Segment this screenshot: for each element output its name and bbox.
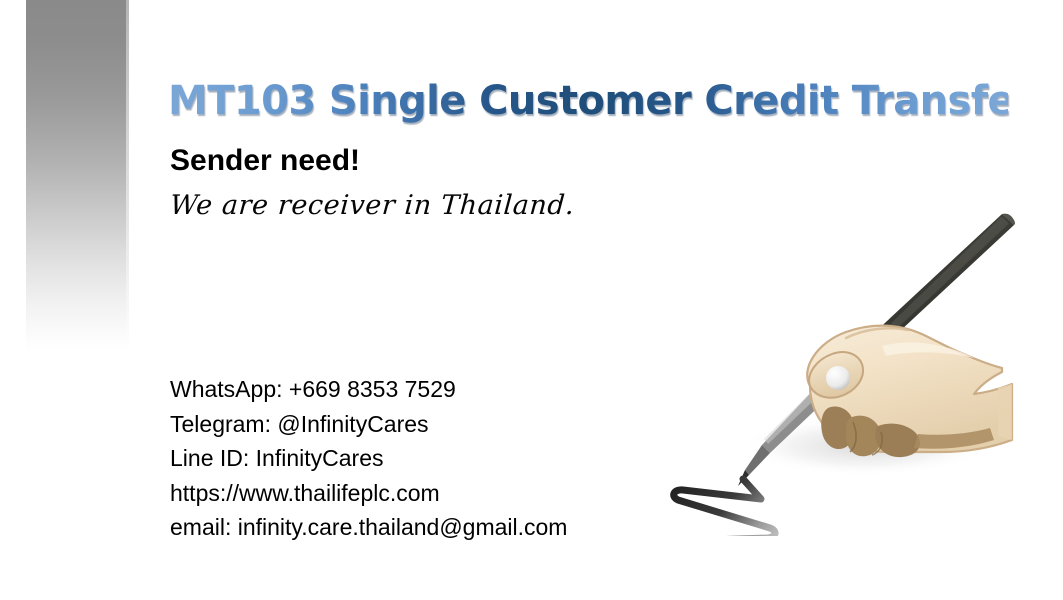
contact-line-website[interactable]: https://www.thailifeplc.com	[170, 476, 690, 511]
left-gradient-band-edge	[126, 0, 129, 352]
hand-writing-with-pen-icon	[650, 196, 1050, 536]
slide-canvas: MT103 Single Customer Credit Transfer Se…	[0, 0, 1063, 600]
script-subtitle: We are receiver in Thailand.	[169, 190, 576, 222]
contact-line-line-id: Line ID: InfinityCares	[170, 441, 690, 476]
contact-line-whatsapp: WhatsApp: +669 8353 7529	[170, 372, 690, 407]
signature-squiggle	[674, 479, 796, 536]
headline-text: Sender need!	[170, 144, 360, 178]
pen-grip-bead	[826, 366, 850, 390]
contact-block: WhatsApp: +669 8353 7529 Telegram: @Infi…	[170, 372, 690, 545]
contact-line-telegram: Telegram: @InfinityCares	[170, 407, 690, 442]
page-title: MT103 Single Customer Credit Transfer	[168, 76, 1008, 126]
left-gradient-band	[26, 0, 126, 352]
contact-line-email[interactable]: email: infinity.care.thailand@gmail.com	[170, 510, 690, 545]
